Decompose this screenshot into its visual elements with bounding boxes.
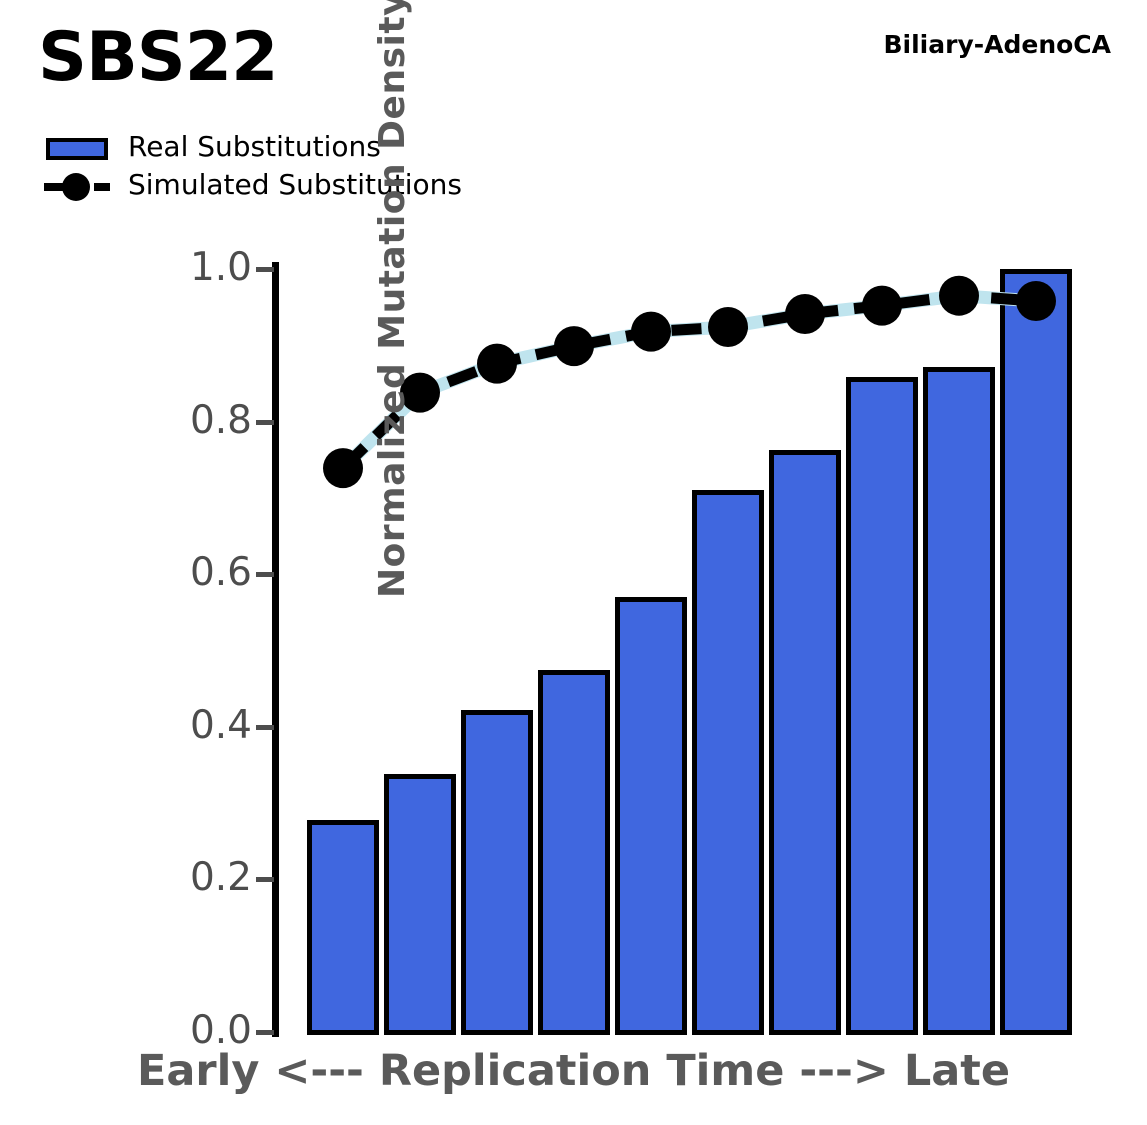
y-axis-tick-label: 0.4 [190, 706, 252, 745]
simulated-data-point[interactable] [477, 344, 517, 384]
y-axis-tick [256, 420, 274, 425]
simulated-data-point[interactable] [554, 326, 594, 366]
plot-area: 0.00.20.40.60.81.0 Normalized Mutation D… [0, 0, 1147, 1125]
y-axis-tick-label: 0.6 [190, 553, 252, 592]
simulated-data-point[interactable] [631, 312, 671, 352]
bar[interactable] [538, 670, 610, 1035]
bar[interactable] [615, 597, 687, 1035]
y-axis-tick-label: 0.0 [190, 1011, 252, 1050]
bar[interactable] [769, 450, 841, 1035]
y-axis-tick-label: 0.8 [190, 401, 252, 440]
y-axis-tick [256, 267, 274, 272]
bar[interactable] [461, 710, 533, 1035]
bar[interactable] [923, 367, 995, 1035]
y-axis-title: Normalized Mutation Density [372, 0, 432, 598]
y-axis-tick [256, 725, 274, 730]
simulated-data-point[interactable] [708, 307, 748, 347]
bar[interactable] [384, 774, 456, 1035]
y-axis-tick [256, 1030, 274, 1035]
simulated-data-point[interactable] [862, 286, 902, 326]
y-axis-tick-label: 0.2 [190, 858, 252, 897]
bar[interactable] [1000, 269, 1072, 1035]
simulated-data-point[interactable] [323, 448, 363, 488]
y-axis-spine [272, 262, 279, 1037]
bar[interactable] [307, 820, 379, 1035]
bar[interactable] [692, 490, 764, 1035]
y-axis-tick [256, 877, 274, 882]
x-axis-title: Early <--- Replication Time ---> Late [0, 1046, 1147, 1096]
simulated-data-point[interactable] [939, 276, 979, 316]
bar[interactable] [846, 377, 918, 1035]
simulated-data-point[interactable] [785, 294, 825, 334]
y-axis-tick [256, 572, 274, 577]
chart-page: SBS22 Biliary-AdenoCA Real Substitutions… [0, 0, 1147, 1125]
y-axis-tick-label: 1.0 [190, 248, 252, 287]
